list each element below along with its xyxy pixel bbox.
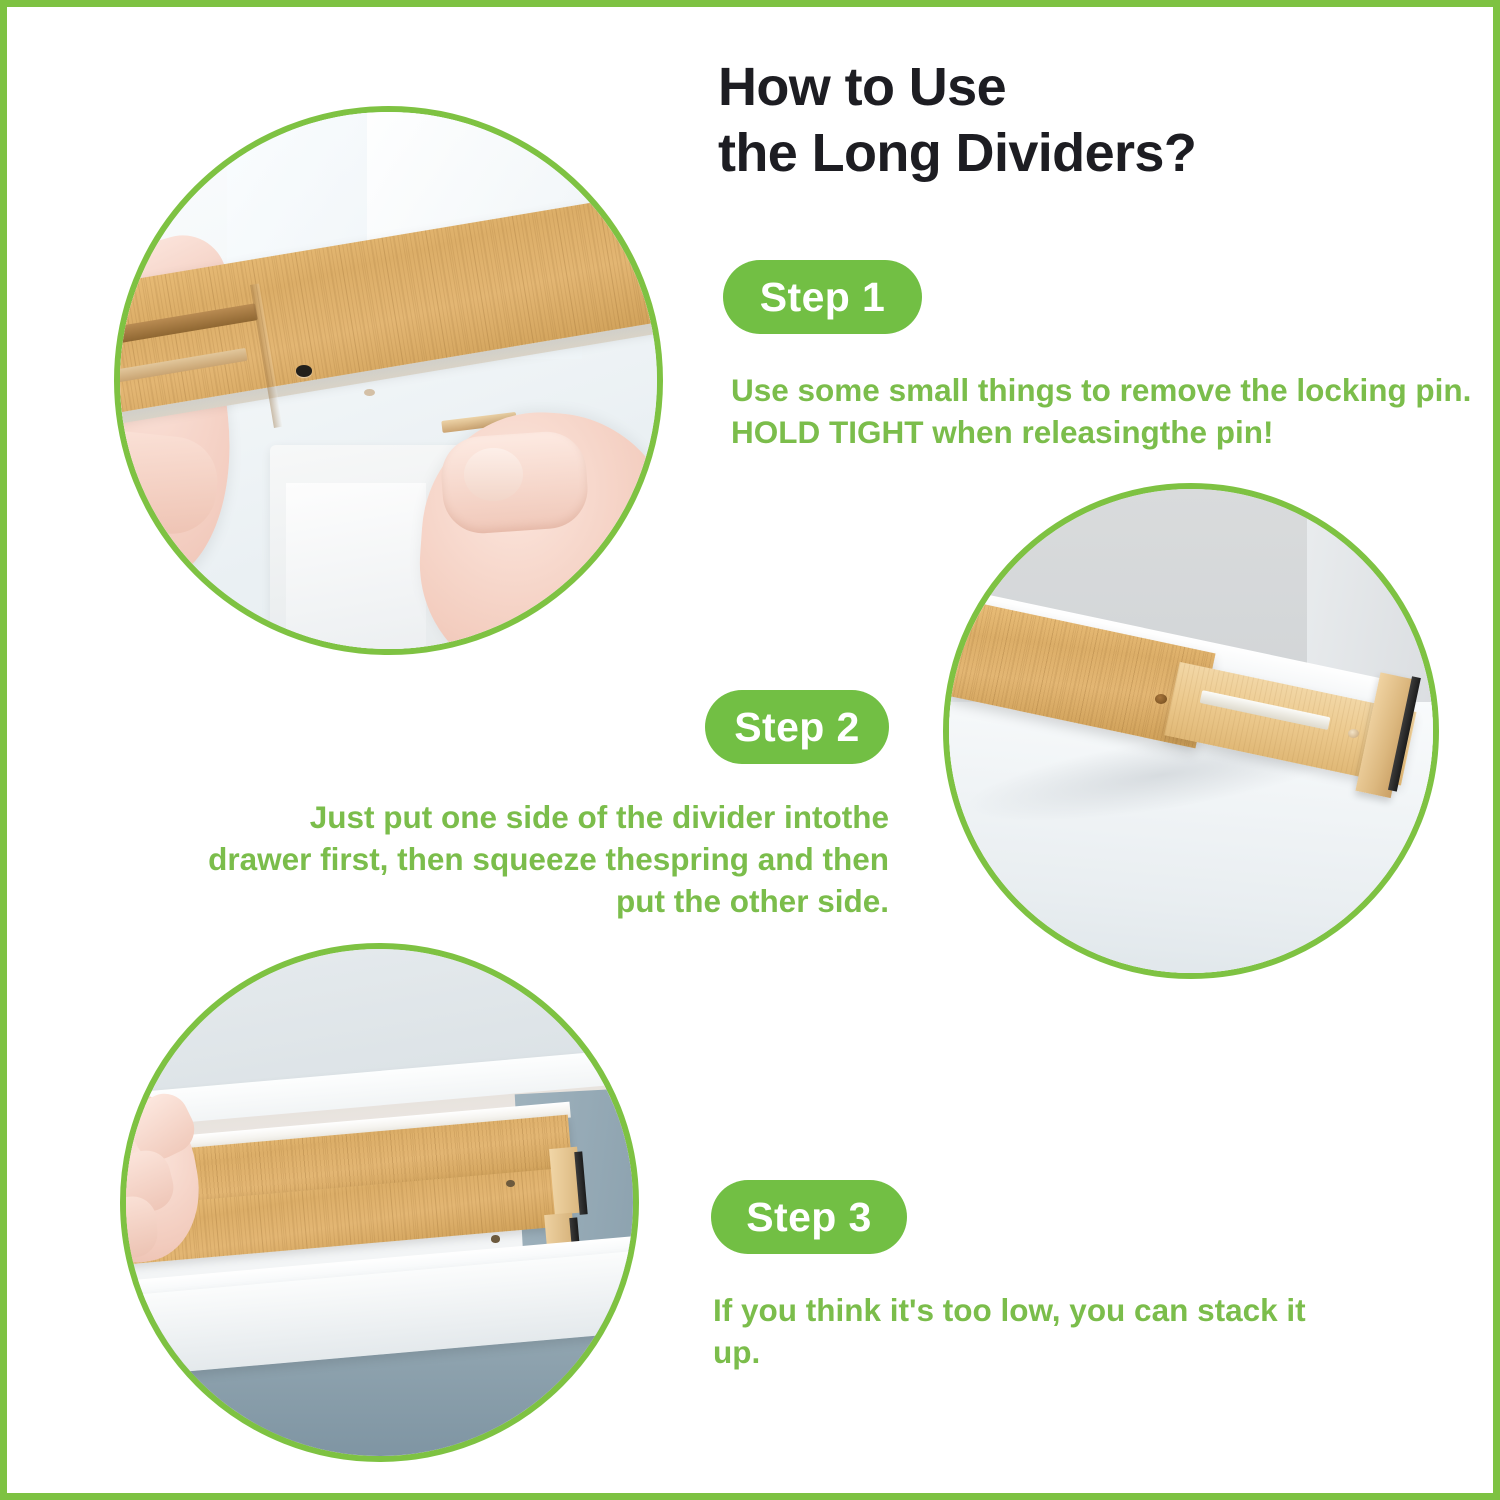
photo1-locking-pin-hole — [296, 365, 312, 376]
photo-hands-removing-locking-pin — [120, 112, 657, 649]
infographic-page: How to Use the Long Dividers? — [0, 0, 1500, 1500]
photo3-pin-hole-bottom — [491, 1235, 500, 1242]
step-2-badge: Step 2 — [705, 690, 889, 764]
step-1-photo — [114, 106, 663, 655]
step-1-description: Use some small things to remove the lock… — [731, 370, 1473, 454]
step-1-badge: Step 1 — [723, 260, 922, 334]
photo-stacked-dividers-in-drawer — [126, 949, 633, 1456]
step-2-photo — [943, 483, 1439, 979]
photo1-bamboo-knot — [364, 389, 375, 396]
photo-divider-in-drawer-corner — [949, 489, 1433, 973]
photo3-pin-hole-top — [506, 1180, 515, 1187]
step-1-badge-label: Step 1 — [760, 274, 885, 321]
photo1-right-thumbnail — [464, 448, 523, 502]
page-title: How to Use the Long Dividers? — [718, 54, 1418, 187]
step-3-description: If you think it's too low, you can stack… — [713, 1290, 1333, 1374]
step-2-description: Just put one side of the divider intothe… — [203, 797, 889, 923]
step-3-badge-label: Step 3 — [746, 1194, 871, 1241]
photo1-white-drawer-inner — [286, 483, 426, 655]
step-3-photo — [120, 943, 639, 1462]
page-title-line-1: How to Use — [718, 54, 1418, 120]
step-2-badge-label: Step 2 — [734, 704, 859, 751]
step-3-badge: Step 3 — [711, 1180, 907, 1254]
page-title-line-2: the Long Dividers? — [718, 120, 1418, 186]
